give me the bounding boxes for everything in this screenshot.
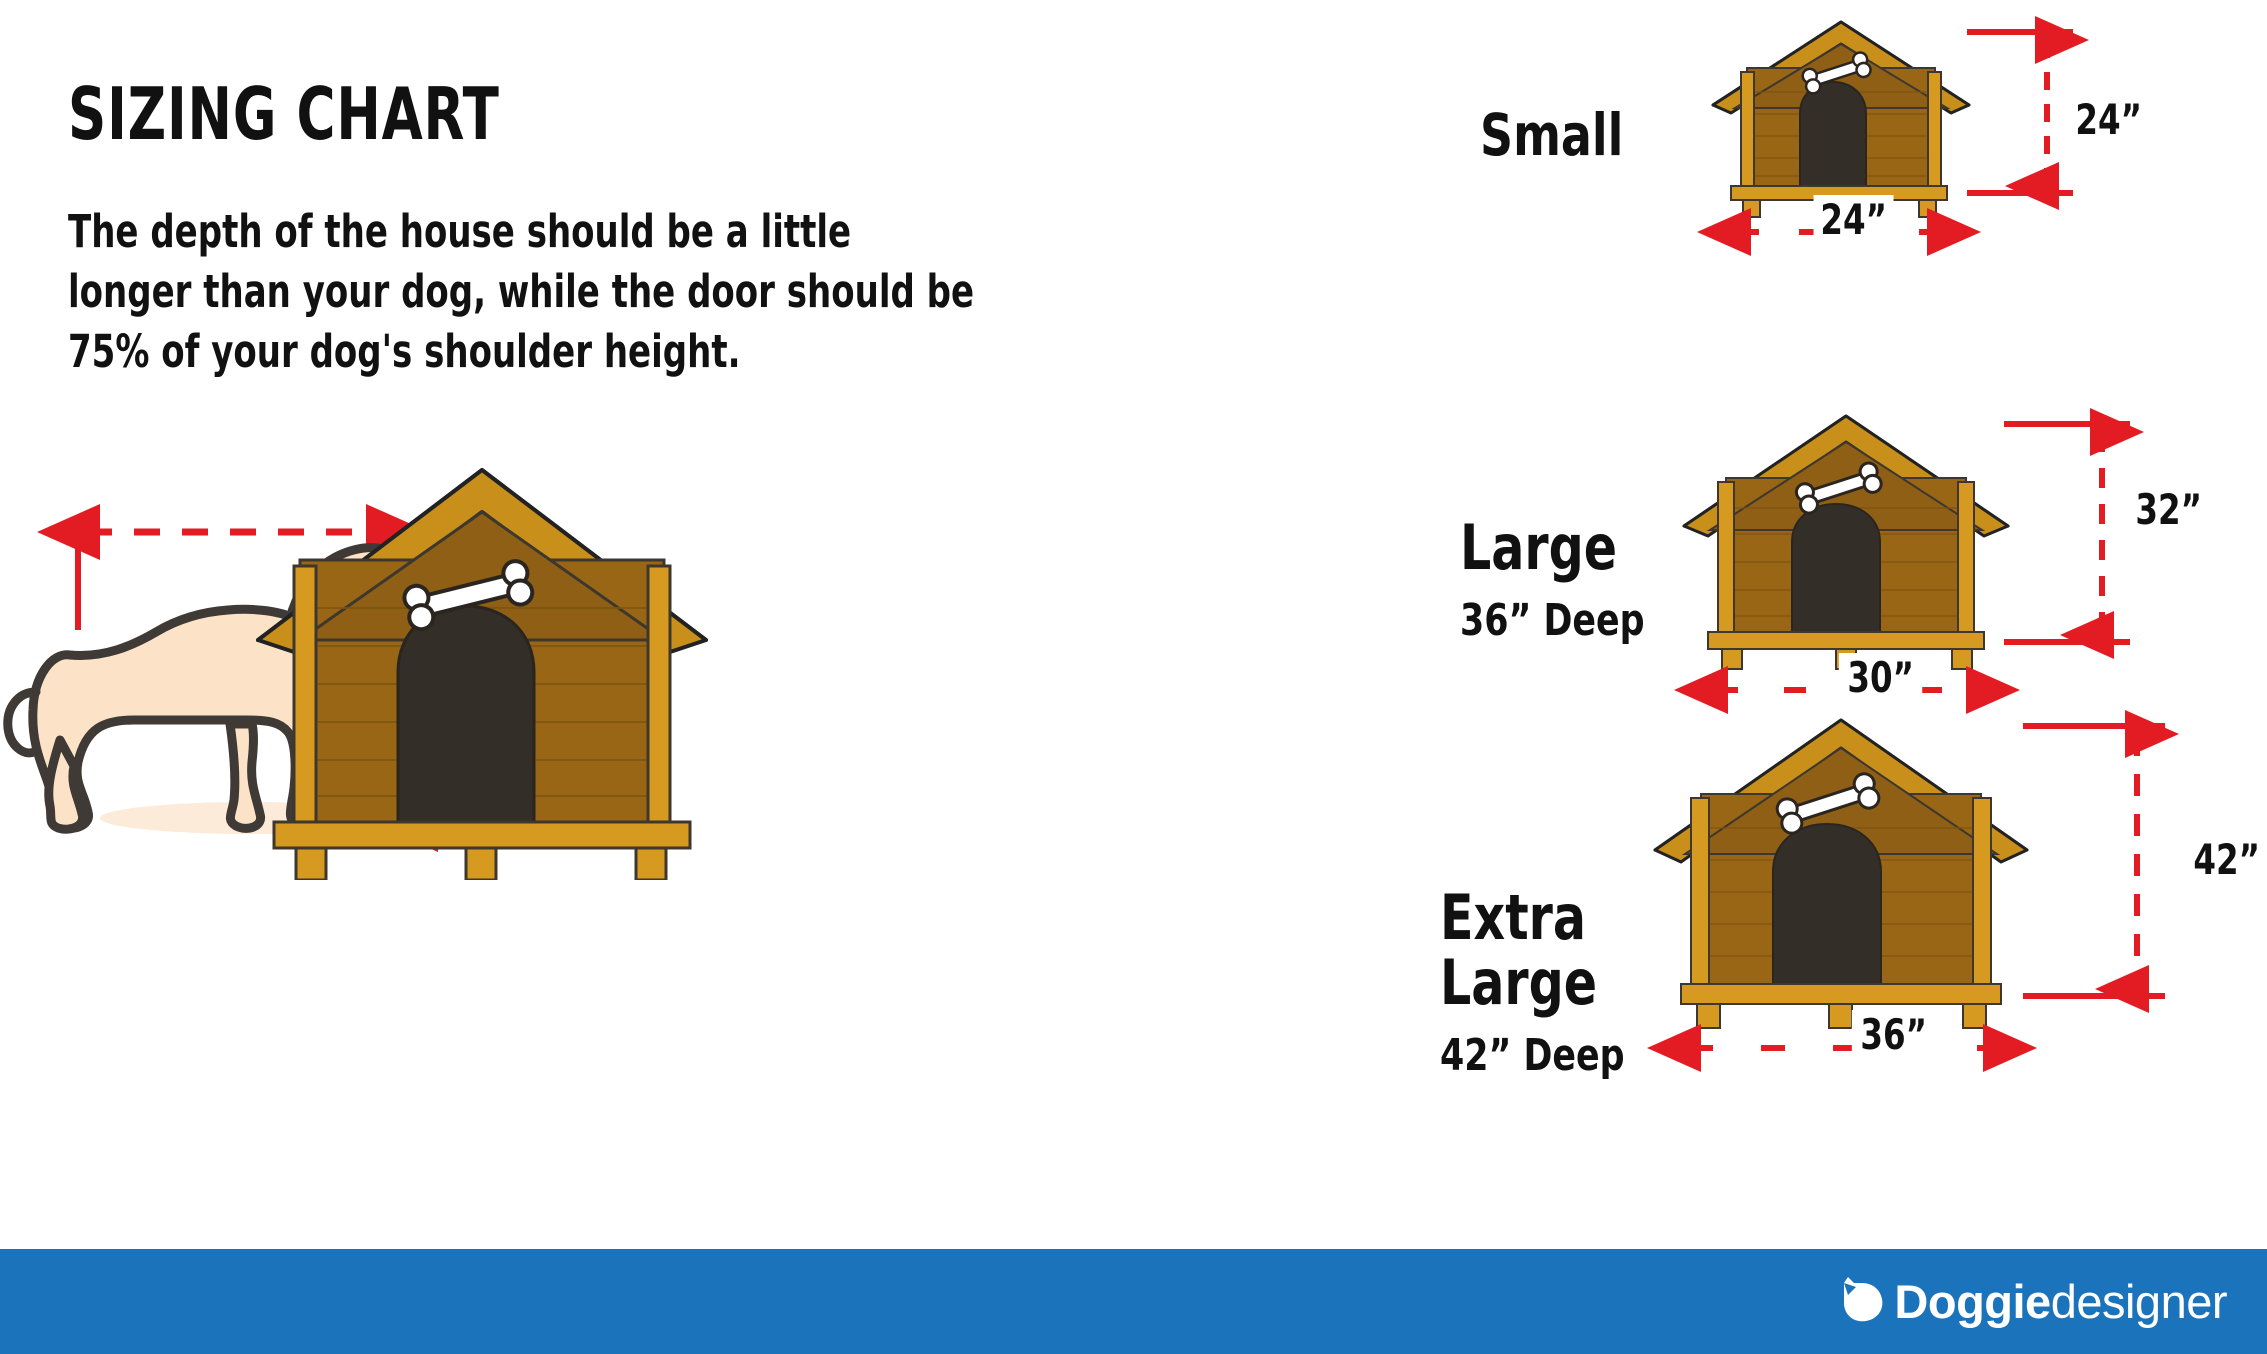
size-row-large: Large 36” Deep xyxy=(1460,400,2250,730)
size-label-large: Large xyxy=(1460,515,1617,580)
brand-name-bold: Doggie xyxy=(1894,1274,2050,1329)
size-label-extra-large-line2: Large xyxy=(1440,950,1597,1015)
height-label-large: 32” xyxy=(2135,485,2202,534)
size-label-extra-large: Extra Large xyxy=(1440,885,1597,1015)
height-dimension-extra-large xyxy=(2023,726,2165,996)
dog-house-extra-large xyxy=(1645,700,2245,1090)
dog-and-house-illustration xyxy=(0,440,1400,880)
height-label-small: 24” xyxy=(2075,95,2142,144)
height-dimension-large xyxy=(2004,424,2130,642)
dog-head-icon xyxy=(1836,1273,1892,1329)
height-label-extra-large: 42” xyxy=(2193,835,2260,884)
width-label-small: 24” xyxy=(1814,195,1894,244)
size-row-extra-large: Extra Large 42” Deep xyxy=(1440,700,2260,1090)
dog-house-small xyxy=(1695,10,2115,260)
size-label-extra-large-line1: Extra xyxy=(1440,885,1597,950)
intro-text-block: SIZING CHART The depth of the house shou… xyxy=(68,78,1168,382)
depth-label-extra-large: 42” Deep xyxy=(1440,1030,1625,1081)
footer-bar: Doggie designer xyxy=(0,1249,2267,1354)
brand-logo[interactable]: Doggie designer xyxy=(1836,1267,2227,1335)
brand-name-light: designer xyxy=(2051,1274,2227,1329)
width-label-large: 30” xyxy=(1839,653,1923,702)
size-row-small: Small xyxy=(1480,10,2240,260)
page-title: SIZING CHART xyxy=(68,78,970,150)
dog-house-large xyxy=(1670,400,2190,730)
depth-label-large: 36” Deep xyxy=(1460,595,1645,646)
width-label-extra-large: 36” xyxy=(1852,1010,1936,1059)
featured-dog-house xyxy=(258,470,706,880)
height-dimension-small xyxy=(1967,32,2073,193)
intro-paragraph: The depth of the house should be a littl… xyxy=(68,202,975,382)
size-label-small: Small xyxy=(1480,105,1623,166)
